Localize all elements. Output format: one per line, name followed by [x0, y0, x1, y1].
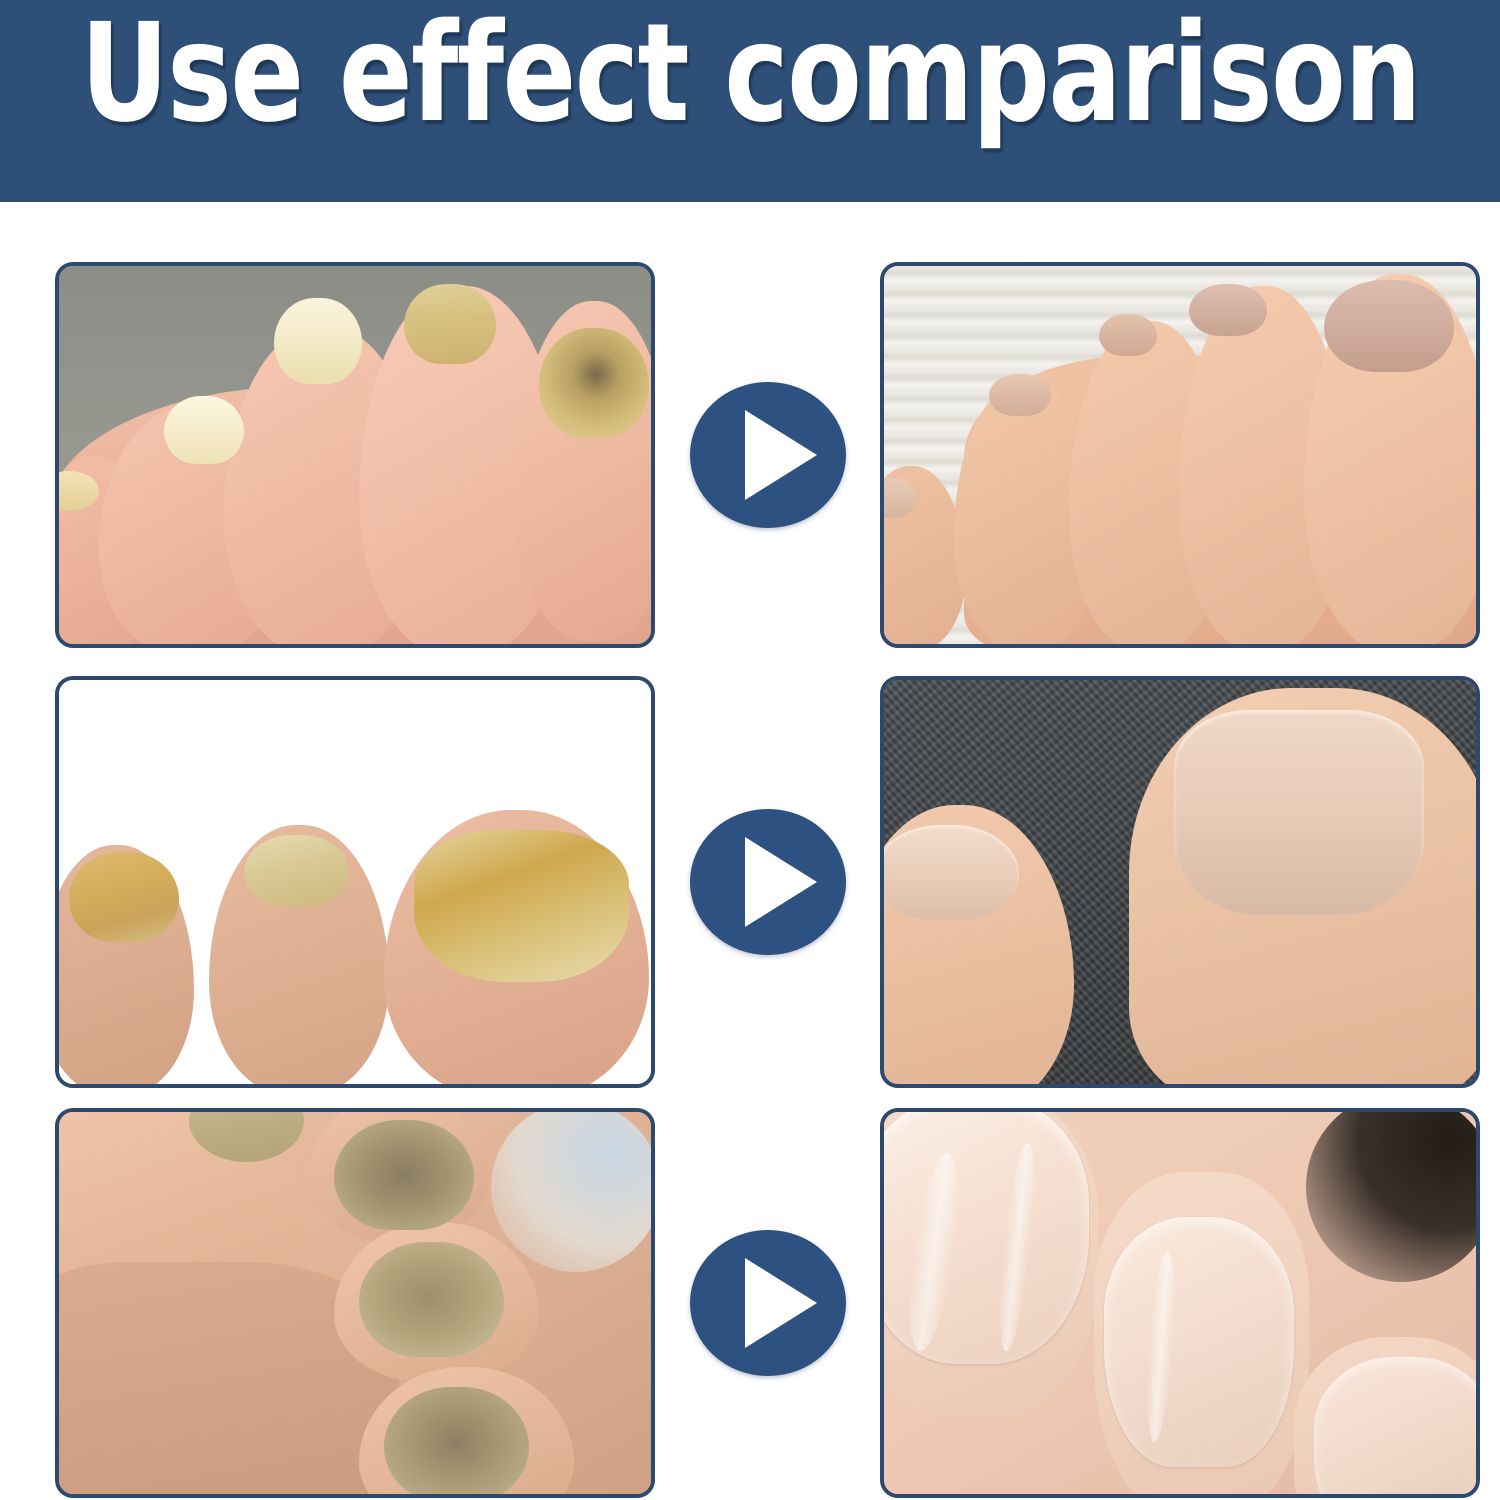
- after-photo-card-1[interactable]: [880, 262, 1480, 648]
- comparison-row: [0, 262, 1500, 648]
- before-photo-card-2[interactable]: [55, 676, 655, 1088]
- after-photo-image-3: [884, 1112, 1476, 1494]
- comparison-row: [0, 676, 1500, 1088]
- after-photo-card-3[interactable]: [880, 1108, 1480, 1498]
- before-photo-card-3[interactable]: [55, 1108, 655, 1498]
- header-banner: Use effect comparison: [0, 0, 1500, 202]
- play-arrow-button-2[interactable]: [690, 809, 846, 955]
- after-photo-image-1: [884, 266, 1476, 644]
- page-title: Use effect comparison: [80, 0, 1420, 144]
- before-photo-image-3: [59, 1112, 651, 1494]
- after-photo-card-2[interactable]: [880, 676, 1480, 1088]
- before-photo-image-1: [59, 266, 651, 644]
- play-arrow-icon: [745, 1258, 817, 1348]
- before-photo-card-1[interactable]: [55, 262, 655, 648]
- before-photo-image-2: [59, 680, 651, 1084]
- comparison-row: [0, 1108, 1500, 1498]
- comparison-grid: [0, 202, 1500, 1500]
- play-arrow-icon: [745, 410, 817, 500]
- play-arrow-button-1[interactable]: [690, 382, 846, 528]
- play-arrow-icon: [745, 837, 817, 927]
- play-arrow-button-3[interactable]: [690, 1230, 846, 1376]
- after-photo-image-2: [884, 680, 1476, 1084]
